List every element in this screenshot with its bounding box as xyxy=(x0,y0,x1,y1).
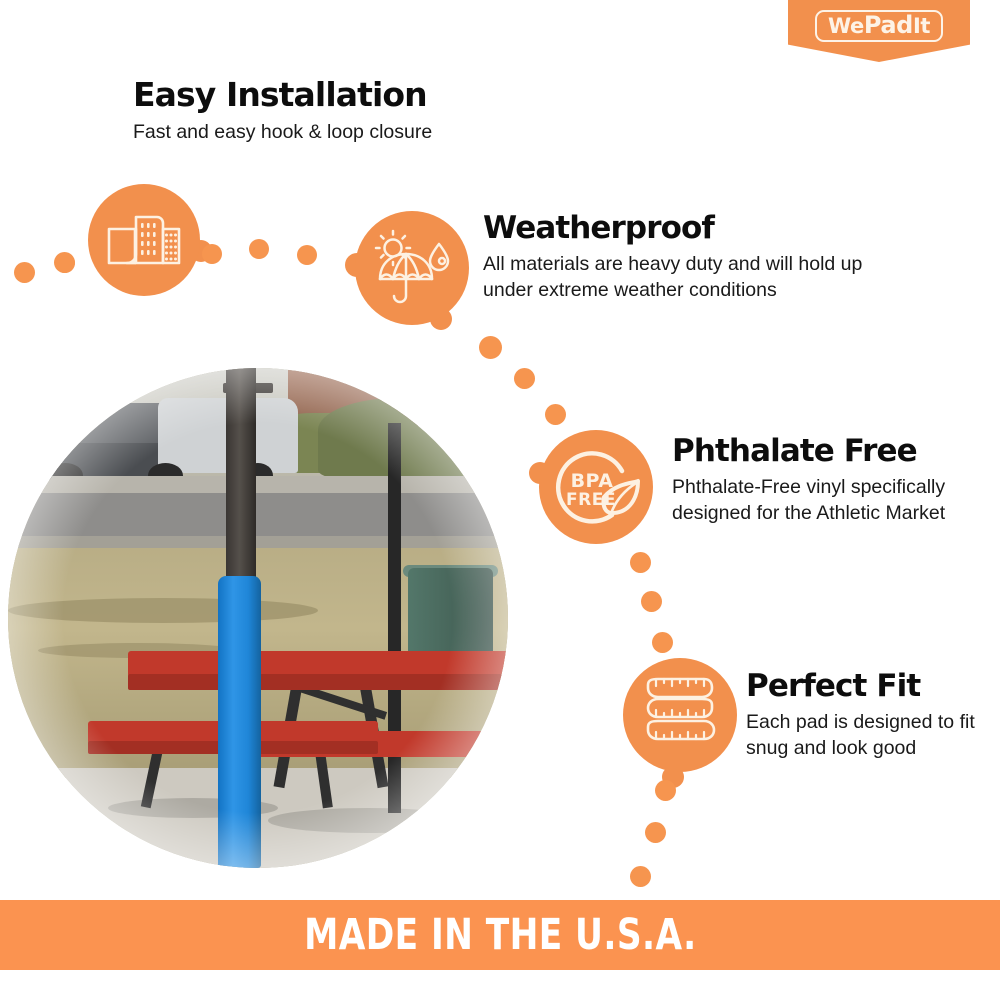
feature-text-phthalate-free: Phthalate Free Phthalate-Free vinyl spec… xyxy=(672,435,962,527)
trail-dot xyxy=(652,632,673,653)
trail-dot xyxy=(655,780,676,801)
trail-dot xyxy=(479,336,502,359)
trail-dot xyxy=(55,253,75,273)
trail-dot xyxy=(630,552,651,573)
feature-text-weatherproof: Weatherproof All materials are heavy dut… xyxy=(483,212,913,304)
feature-text-easy-installation: Easy Installation Fast and easy hook & l… xyxy=(133,78,563,145)
brand-logo-badge: WePadIt xyxy=(788,0,970,62)
trail-dot xyxy=(297,245,317,265)
made-in-usa-banner: MADE IN THE U.S.A. xyxy=(0,900,1000,970)
feature-title-perfect-fit: Perfect Fit xyxy=(746,670,986,703)
feature-description-easy-installation: Fast and easy hook & loop closure xyxy=(133,119,563,146)
feature-icon-circle-easy-installation xyxy=(88,184,200,296)
umbrella-sun-raindrop-icon xyxy=(372,230,452,306)
brand-logo-pad: Pad xyxy=(864,11,913,39)
feature-text-perfect-fit: Perfect Fit Each pad is designed to fit … xyxy=(746,670,986,762)
infographic-page: WePadIt Easy Installation Fast and easy … xyxy=(0,0,1000,987)
svg-text:FREE: FREE xyxy=(566,490,616,510)
bpa-free-leaf-icon: BPA FREE xyxy=(550,441,642,533)
svg-text:BPA: BPA xyxy=(571,470,614,492)
feature-icon-circle-phthalate-free: BPA FREE xyxy=(539,430,653,544)
feature-description-phthalate-free: Phthalate-Free vinyl specifically design… xyxy=(672,474,962,527)
trail-dot xyxy=(202,244,222,264)
feature-title-phthalate-free: Phthalate Free xyxy=(672,435,962,468)
measuring-tape-icon xyxy=(638,675,722,755)
trail-dot xyxy=(14,262,35,283)
brand-logo-we: We xyxy=(828,14,864,38)
photo-vignette xyxy=(8,368,508,868)
product-photo xyxy=(8,368,508,868)
feature-description-weatherproof: All materials are heavy duty and will ho… xyxy=(483,251,913,304)
feature-icon-circle-weatherproof xyxy=(355,211,469,325)
trail-dot xyxy=(545,404,566,425)
trail-dot xyxy=(249,239,269,259)
trail-dot xyxy=(641,591,662,612)
feature-title-weatherproof: Weatherproof xyxy=(483,212,913,245)
feature-icon-circle-perfect-fit xyxy=(623,658,737,772)
brand-logo-frame: WePadIt xyxy=(815,10,943,42)
feature-description-perfect-fit: Each pad is designed to fit snug and loo… xyxy=(746,709,986,762)
trail-dot xyxy=(645,822,666,843)
made-in-usa-text: MADE IN THE U.S.A. xyxy=(304,910,697,960)
trail-dot xyxy=(630,866,651,887)
trail-dot xyxy=(514,368,535,389)
feature-title-easy-installation: Easy Installation xyxy=(133,78,563,113)
hook-and-loop-strap-icon xyxy=(105,209,183,271)
brand-logo-text: WePadIt xyxy=(828,14,930,38)
brand-logo-it: It xyxy=(913,14,930,38)
